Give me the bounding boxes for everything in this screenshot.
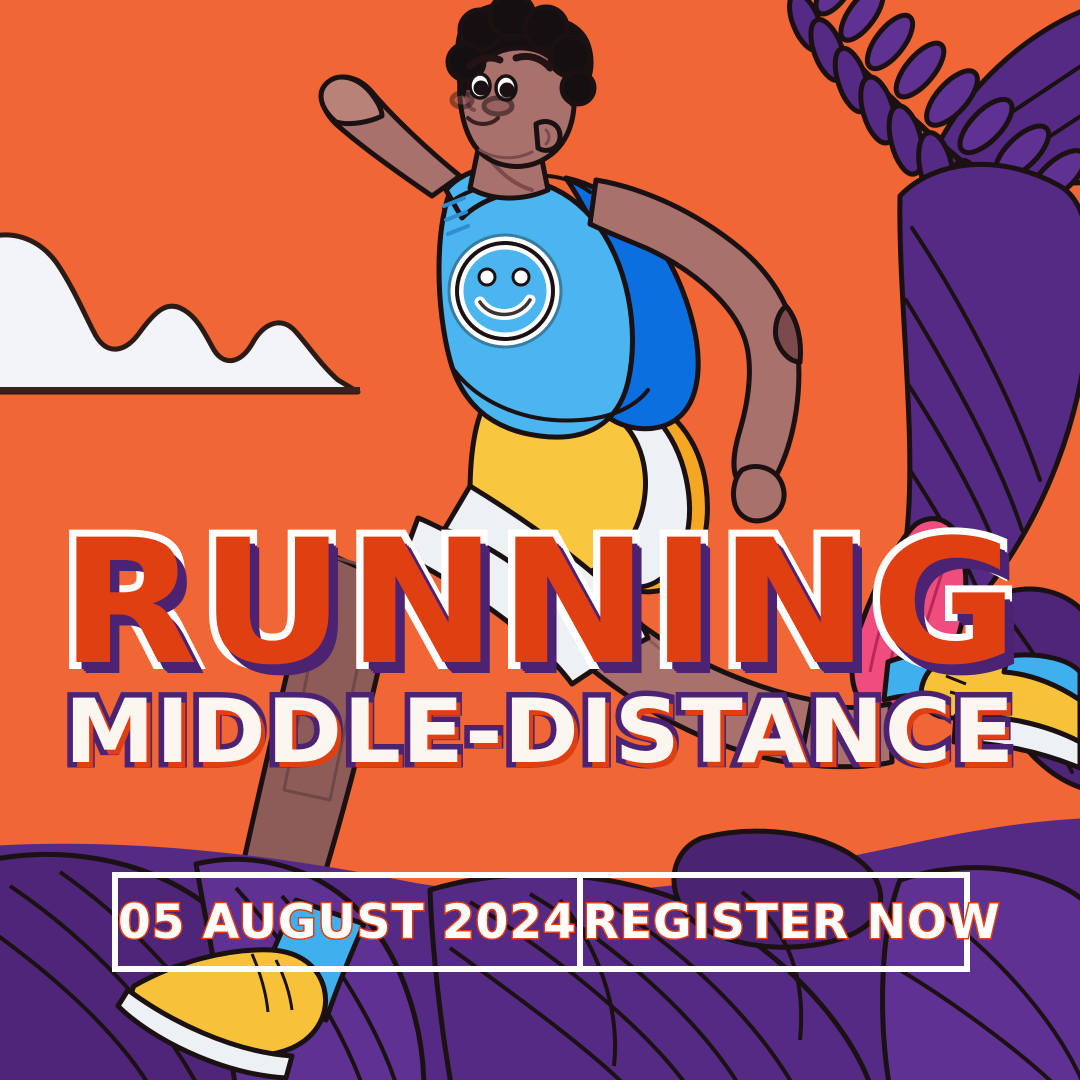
running-event-poster: RUNNING MIDDLE-DISTANCE 05 AUGUST 2024 R… bbox=[0, 0, 1080, 1080]
cta-bar: 05 AUGUST 2024 REGISTER NOW bbox=[112, 872, 970, 972]
register-now-label: REGISTER NOW bbox=[583, 895, 1001, 950]
register-now-button[interactable]: REGISTER NOW bbox=[577, 878, 1001, 966]
event-date: 05 AUGUST 2024 bbox=[118, 895, 577, 950]
event-date-cell: 05 AUGUST 2024 bbox=[118, 878, 577, 966]
